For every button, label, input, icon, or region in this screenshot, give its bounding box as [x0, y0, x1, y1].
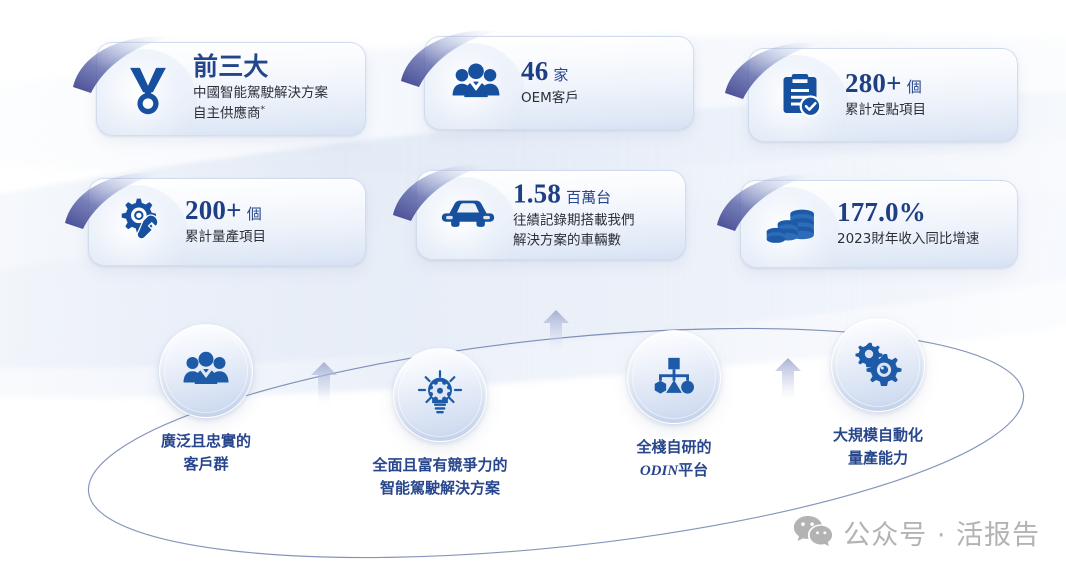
- pillar-label: 廣泛且忠實的 客戶群: [106, 430, 306, 475]
- pillar-customer-base[interactable]: 廣泛且忠實的 客戶群: [106, 324, 306, 475]
- stat-value-line: 280+個: [845, 69, 1003, 97]
- stat-description: 累計定點項目: [845, 101, 1003, 121]
- stat-card-body: 200+個 累計量產項目: [185, 196, 351, 248]
- pillar-label-emphasis: ODIN: [640, 463, 678, 479]
- pillar-solutions[interactable]: 全面且富有競爭力的 智能駕駛解決方案: [340, 348, 540, 499]
- stat-description: 往績記錄期搭載我們 解決方案的車輛數: [513, 212, 671, 251]
- stat-card-body: 46家 OEM客戶: [521, 57, 679, 109]
- wechat-icon: [793, 514, 833, 552]
- infographic-canvas: 前三大 中國智能駕駛解決方案 自主供應商* 46家: [0, 0, 1066, 566]
- pillar-label: 全面且富有競爭力的 智能駕駛解決方案: [340, 454, 540, 499]
- stat-card-body: 前三大 中國智能駕駛解決方案 自主供應商*: [193, 54, 351, 124]
- stat-value-line: 200+個: [185, 196, 351, 224]
- stat-value: 前三大: [193, 52, 269, 81]
- stat-description: OEM客戶: [521, 89, 679, 109]
- stat-value: 177.0%: [837, 197, 926, 227]
- arrow-up-icon-1: [306, 360, 342, 406]
- stat-card-design-wins[interactable]: 280+個 累計定點項目: [748, 48, 1018, 142]
- stat-unit: 個: [907, 78, 922, 96]
- stat-card-vehicles-equipped[interactable]: 1.58百萬台 往績記錄期搭載我們 解決方案的車輛數: [416, 170, 686, 260]
- stat-value: 280+: [845, 68, 902, 98]
- pillar-circle: [393, 348, 487, 442]
- stat-value-line: 177.0%: [837, 198, 1003, 226]
- pillar-odin-platform[interactable]: 全棧自研的 ODIN平台: [574, 330, 774, 482]
- stat-value-line: 46家: [521, 57, 679, 85]
- pillar-circle: [627, 330, 721, 424]
- stat-description-text: 中國智能駕駛解決方案 自主供應商: [193, 85, 328, 121]
- stat-value-line: 前三大: [193, 54, 351, 80]
- pillar-circle: [159, 324, 253, 418]
- stat-unit: 家: [553, 66, 568, 84]
- pillar-label-post: 平台: [678, 461, 708, 479]
- stat-value-line: 1.58百萬台: [513, 179, 671, 207]
- stat-unit: 個: [247, 205, 262, 223]
- stat-card-top-three[interactable]: 前三大 中國智能駕駛解決方案 自主供應商*: [96, 42, 366, 136]
- gears-icon: [854, 339, 902, 392]
- stat-value: 46: [521, 56, 548, 86]
- asterisk-marker: *: [261, 105, 266, 115]
- car-icon: [435, 182, 501, 248]
- stat-card-mass-production[interactable]: 200+個 累計量產項目: [88, 178, 366, 266]
- watermark: 公众号 · 活报告: [793, 513, 1040, 552]
- stat-card-oem-customers[interactable]: 46家 OEM客戶: [424, 36, 694, 130]
- pillar-circle: [831, 318, 925, 412]
- stat-card-body: 177.0% 2023財年收入同比增速: [837, 198, 1003, 250]
- watermark-text: 公众号 · 活报告: [843, 513, 1040, 552]
- pillar-label: 大規模自動化 量產能力: [778, 424, 978, 469]
- stat-card-revenue-growth[interactable]: 177.0% 2023財年收入同比增速: [740, 180, 1018, 268]
- lightbulb-gear-icon: [416, 369, 464, 422]
- stat-description: 中國智能駕駛解決方案 自主供應商*: [193, 84, 351, 124]
- stat-card-body: 280+個 累計定點項目: [845, 69, 1003, 121]
- pillar-label-pre: 全棧自研的: [636, 438, 711, 456]
- stat-description: 累計量產項目: [185, 228, 351, 248]
- stat-card-body: 1.58百萬台 往績記錄期搭載我們 解決方案的車輛數: [513, 179, 671, 250]
- coins-stack-icon: [759, 191, 825, 257]
- medal-icon: [115, 56, 181, 122]
- stat-description: 2023財年收入同比增速: [837, 230, 1003, 250]
- hierarchy-icon: [651, 355, 697, 400]
- pillar-label: 全棧自研的 ODIN平台: [574, 436, 774, 482]
- stat-value: 200+: [185, 195, 242, 225]
- clipboard-check-icon: [767, 62, 833, 128]
- stat-unit: 百萬台: [566, 188, 611, 206]
- pillar-automation[interactable]: 大規模自動化 量產能力: [778, 318, 978, 469]
- arrow-up-icon-2: [538, 308, 574, 354]
- stat-value: 1.58: [513, 178, 561, 208]
- people-group-icon: [443, 50, 509, 116]
- gear-wrench-icon: [107, 189, 173, 255]
- people-group-icon: [182, 348, 230, 395]
